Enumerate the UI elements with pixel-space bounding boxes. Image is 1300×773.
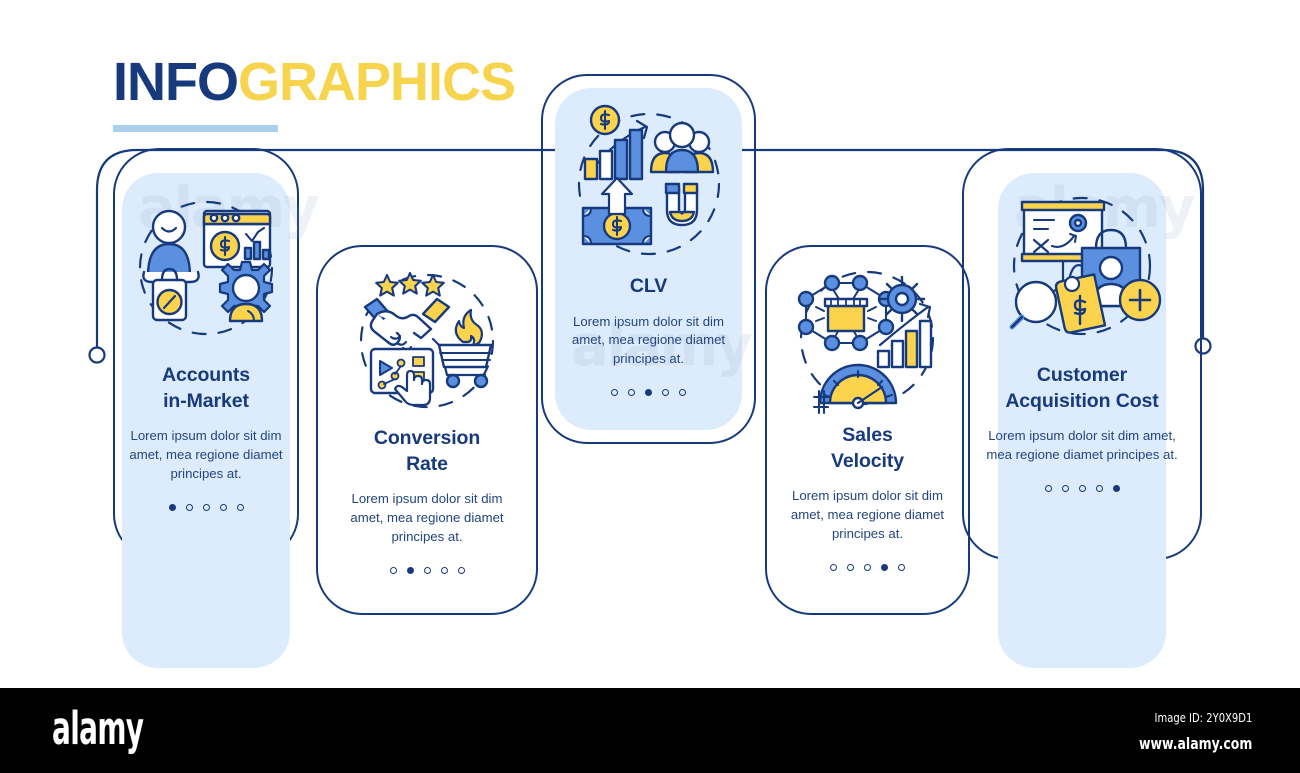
connector-endpoint-left — [90, 348, 105, 363]
card-sales-velocity[interactable]: Sales Velocity Lorem ipsum dolor sit dim… — [765, 245, 970, 615]
footer-image-id: Image ID: 2Y0X9D1 — [1136, 710, 1252, 725]
step-dot-1[interactable] — [1045, 485, 1052, 492]
step-dot-3[interactable] — [645, 389, 652, 396]
infographic-canvas: INFOGRAPHICS alamy — [0, 0, 1300, 773]
card-title: Accounts in-Market — [162, 363, 250, 414]
page-title-part1: INFO — [113, 52, 238, 112]
customer-acquisition-cost-icon — [1000, 184, 1165, 349]
card-content: Customer Acquisition Cost Lorem ipsum do… — [962, 184, 1202, 492]
step-dot-3[interactable] — [1079, 485, 1086, 492]
step-indicator[interactable] — [830, 564, 905, 571]
step-dot-1[interactable] — [611, 389, 618, 396]
step-dot-4[interactable] — [1096, 485, 1103, 492]
page-title: INFOGRAPHICS — [113, 55, 515, 132]
step-dot-4[interactable] — [662, 389, 669, 396]
card-title-line2: in-Market — [162, 389, 250, 415]
step-dot-5[interactable] — [458, 567, 465, 574]
step-dot-5[interactable] — [679, 389, 686, 396]
card-title-line1: Customer — [1005, 363, 1158, 389]
card-title-line1: CLV — [630, 274, 667, 300]
step-indicator[interactable] — [1045, 485, 1120, 492]
card-content: Sales Velocity Lorem ipsum dolor sit dim… — [765, 265, 970, 571]
card-title: CLV — [630, 274, 667, 300]
card-title: Conversion Rate — [374, 426, 480, 477]
alamy-logo: alamy — [52, 702, 143, 755]
step-dot-2[interactable] — [407, 567, 414, 574]
card-customer-acquisition-cost[interactable]: alamy — [962, 148, 1202, 560]
step-dot-3[interactable] — [864, 564, 871, 571]
step-dot-1[interactable] — [169, 504, 176, 511]
step-dot-1[interactable] — [830, 564, 837, 571]
step-dot-2[interactable] — [1062, 485, 1069, 492]
step-dot-5[interactable] — [1113, 485, 1120, 492]
title-underline — [113, 125, 278, 132]
card-description: Lorem ipsum dolor sit dim amet, mea regi… — [123, 427, 289, 483]
step-dot-5[interactable] — [898, 564, 905, 571]
card-accounts-in-market[interactable]: alamy — [113, 148, 299, 560]
step-dot-2[interactable] — [847, 564, 854, 571]
clv-icon — [569, 104, 729, 264]
card-content: CLV Lorem ipsum dolor sit dim amet, mea … — [541, 104, 756, 396]
step-indicator[interactable] — [611, 389, 686, 396]
step-dot-2[interactable] — [628, 389, 635, 396]
step-dot-4[interactable] — [881, 564, 888, 571]
card-description: Lorem ipsum dolor sit dim amet, mea regi… — [561, 313, 736, 369]
card-content: Accounts in-Market Lorem ipsum dolor sit… — [113, 184, 299, 511]
step-dot-3[interactable] — [424, 567, 431, 574]
step-indicator[interactable] — [390, 567, 465, 574]
card-description: Lorem ipsum dolor sit dim amet, mea regi… — [782, 487, 954, 543]
footer-bar: alamy Image ID: 2Y0X9D1 www.alamy.com — [0, 688, 1300, 773]
sales-velocity-icon — [790, 265, 945, 415]
card-description: Lorem ipsum dolor sit dim amet, mea regi… — [982, 427, 1182, 464]
card-title-line2: Acquisition Cost — [1005, 389, 1158, 415]
card-content: Conversion Rate Lorem ipsum dolor sit di… — [316, 263, 538, 574]
step-dot-4[interactable] — [220, 504, 227, 511]
footer-url[interactable]: www.alamy.com — [1139, 734, 1252, 753]
card-clv[interactable]: alamy — [541, 74, 756, 444]
step-indicator[interactable] — [169, 504, 244, 511]
page-title-part2: GRAPHICS — [238, 52, 515, 112]
card-title-line1: Accounts — [162, 363, 250, 389]
card-title-line2: Velocity — [831, 449, 904, 475]
step-dot-3[interactable] — [203, 504, 210, 511]
step-dot-1[interactable] — [390, 567, 397, 574]
card-title-line2: Rate — [374, 452, 480, 478]
accounts-in-market-icon — [126, 184, 286, 349]
card-title: Customer Acquisition Cost — [1005, 363, 1158, 414]
card-title-line1: Conversion — [374, 426, 480, 452]
footer-meta: Image ID: 2Y0X9D1 www.alamy.com — [1107, 710, 1252, 753]
card-title-line1: Sales — [831, 423, 904, 449]
card-description: Lorem ipsum dolor sit dim amet, mea regi… — [339, 490, 515, 546]
conversion-rate-icon — [347, 263, 507, 418]
step-dot-5[interactable] — [237, 504, 244, 511]
step-dot-2[interactable] — [186, 504, 193, 511]
step-dot-4[interactable] — [441, 567, 448, 574]
card-title: Sales Velocity — [831, 423, 904, 474]
card-conversion-rate[interactable]: Conversion Rate Lorem ipsum dolor sit di… — [316, 245, 538, 615]
